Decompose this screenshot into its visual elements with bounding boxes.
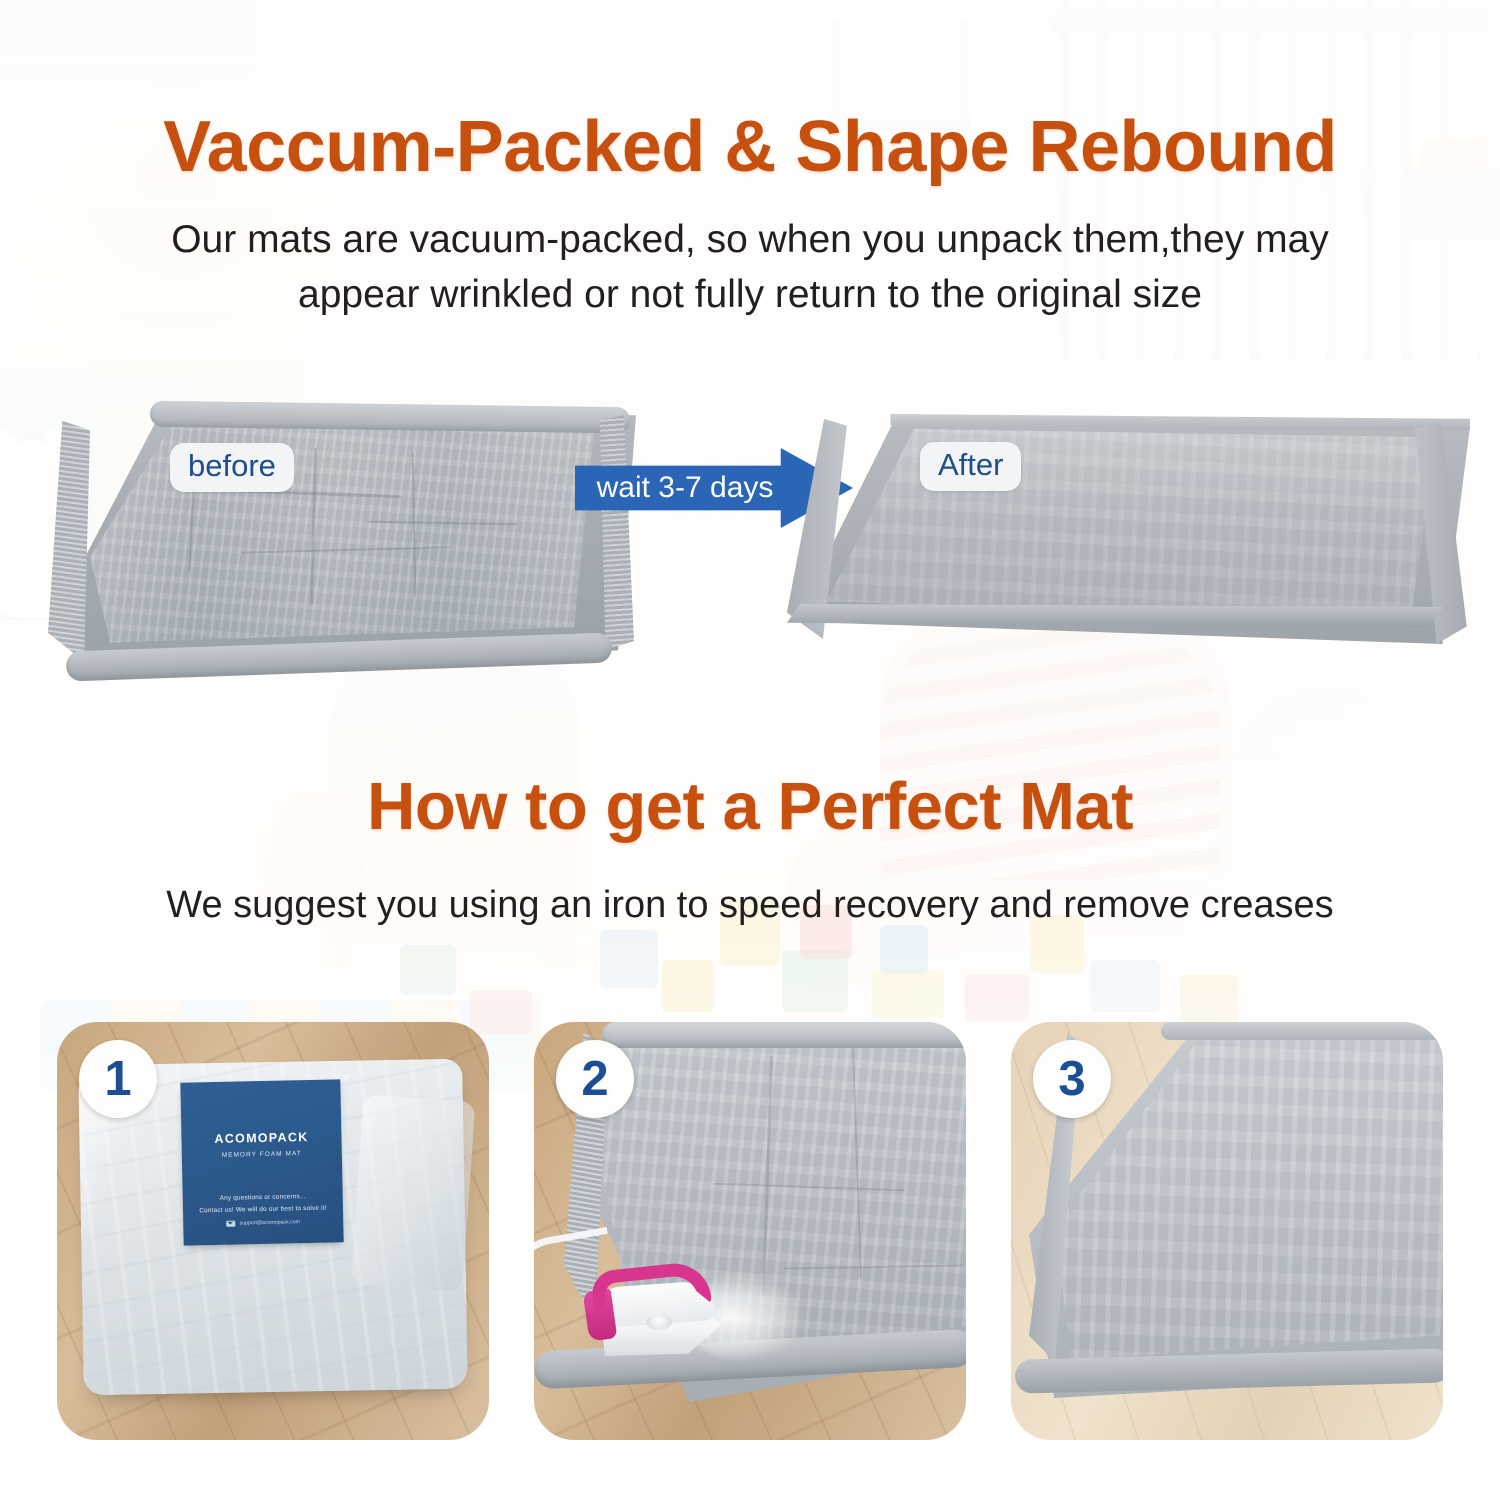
after-mat-image [780,414,1470,664]
registered-trademark-icon: ® [344,1075,349,1082]
howto-section-title: How to get a Perfect Mat [0,768,1500,845]
wrinkle-crease [367,521,517,526]
rebound-section-subtitle: Our mats are vacuum-packed, so when you … [120,212,1380,323]
wrinkle-crease [310,448,317,605]
step-number-badge-3: 3 [1033,1040,1111,1118]
rebound-subtitle-line-2: appear wrinkled or not fully return to t… [120,267,1380,322]
rebound-section-title: Vaccum-Packed & Shape Rebound [0,106,1500,188]
before-mat-image [42,404,642,684]
brand-name: ACOMOPACK [214,1130,308,1146]
product-name: MEMORY FOAM MAT [182,1149,342,1159]
step-panel-2: 2 [534,1022,966,1440]
infographic-page: Vaccum-Packed & Shape Rebound Our mats a… [0,0,1500,1500]
step-number-badge-2: 2 [556,1040,634,1118]
wrinkle-crease [411,453,416,597]
iron-temperature-dial [646,1314,672,1330]
step-panel-3: 3 [1011,1022,1443,1440]
clothes-iron-icon [578,1260,728,1360]
package-brand-label: ACOMOPACK® MEMORY FOAM MAT Any questions… [180,1079,343,1245]
finished-mat-trim-top [1161,1022,1443,1040]
wrinkle-crease [714,1183,904,1192]
step-number-badge-1: 1 [79,1040,157,1118]
support-line-1: Any questions or concerns... [183,1192,343,1202]
support-email: support@acomopack.com [240,1219,300,1226]
wrinkle-crease [784,1264,964,1269]
rebound-subtitle-line-1: Our mats are vacuum-packed, so when you … [120,212,1380,267]
envelope-icon [227,1220,236,1227]
support-email-row: support@acomopack.com [183,1218,343,1228]
before-mat-trim-left [48,421,90,662]
after-label-badge: After [920,442,1021,491]
before-label-badge: before [170,443,294,492]
brand-name-wrap: ACOMOPACK® [181,1127,341,1148]
howto-section-subtitle: We suggest you using an iron to speed re… [40,884,1460,927]
wrinkle-crease [852,1048,862,1278]
plastic-bag-flap [351,1094,476,1291]
after-mat-surface [815,429,1436,634]
wait-arrow-label: wait 3-7 days [585,471,785,505]
support-line-2: Contact us! We will do our best to solve… [183,1204,343,1214]
mat-trim-top [602,1022,966,1048]
package-support-block: Any questions or concerns... Contact us!… [183,1192,344,1228]
wrinkle-crease [762,1056,773,1296]
before-mat-surface [90,426,594,644]
wrinkle-crease [241,546,451,553]
